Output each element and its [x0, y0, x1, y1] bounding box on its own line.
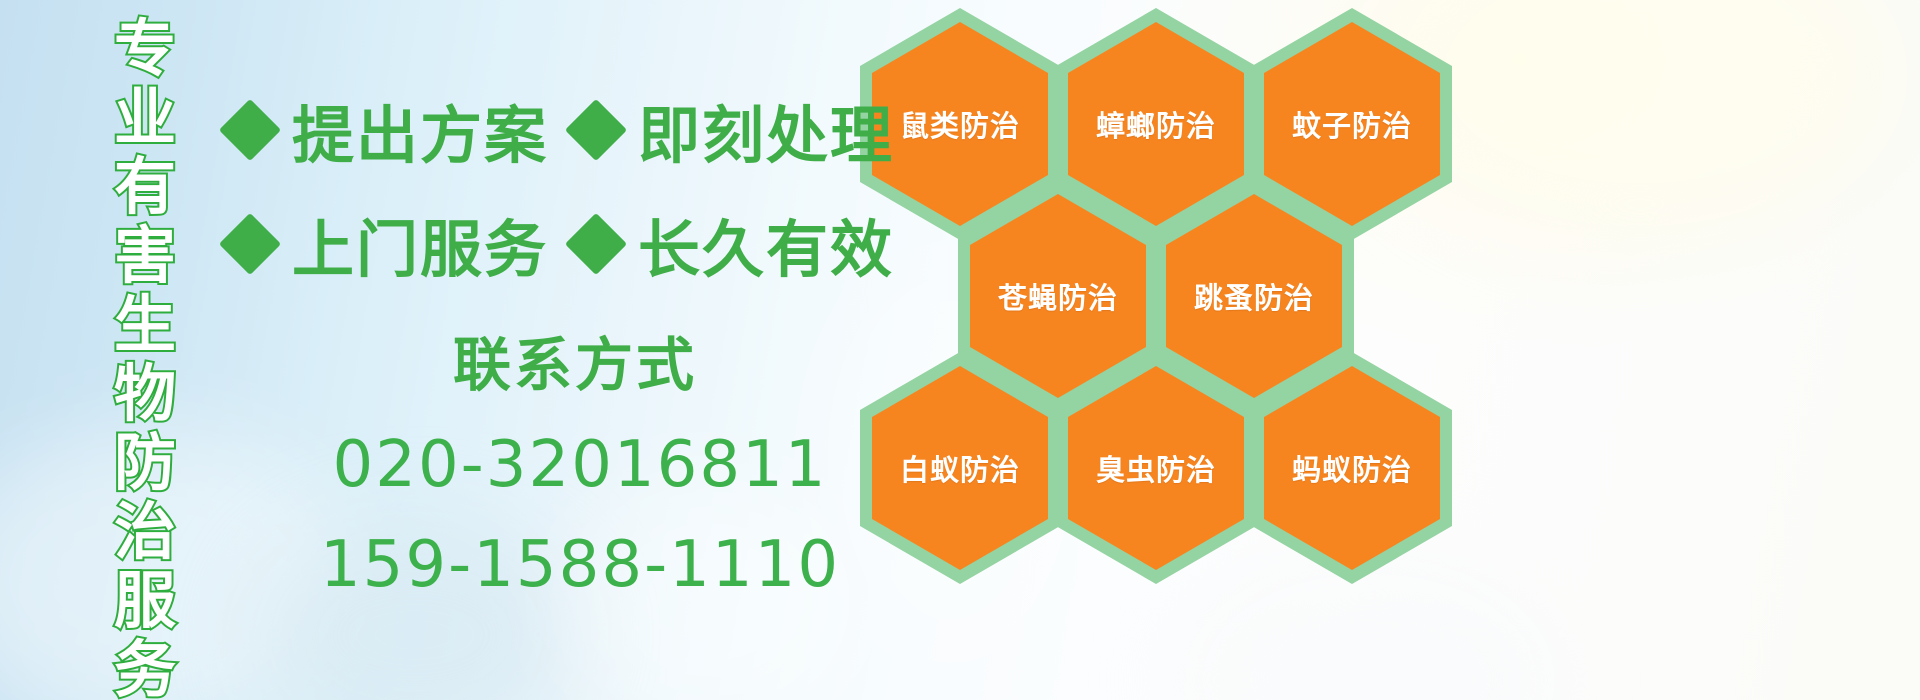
service-hex-termite[interactable]: 白蚁防治 [860, 352, 1060, 584]
diamond-icon [565, 213, 627, 275]
service-hex-label: 白蚁防治 [900, 447, 1020, 489]
vertical-headline-char: 治 [114, 497, 176, 566]
feature-bullet-item: 上门服务 [228, 199, 548, 289]
feature-bullet-label: 即刻处理 [638, 85, 894, 175]
service-hex-ant[interactable]: 蚂蚁防治 [1252, 352, 1452, 584]
feature-bullet-label: 上门服务 [292, 199, 548, 289]
feature-bullet-item: 长久有效 [574, 199, 894, 289]
service-hex-label: 臭虫防治 [1096, 447, 1216, 489]
feature-bullet-item: 提出方案 [228, 85, 548, 175]
diamond-icon [219, 99, 281, 161]
contact-block: 联系方式 020-32016811 159-1588-1110 [300, 318, 860, 602]
service-hex-label: 跳蚤防治 [1194, 275, 1314, 317]
service-hex-label: 蚊子防治 [1292, 103, 1412, 145]
service-honeycomb-grid: 鼠类防治 蟑螂防治 蚊子防治 苍蝇防治 跳蚤防治 [860, 0, 1920, 700]
vertical-headline-char: 业 [114, 83, 176, 152]
service-hex-bedbug[interactable]: 臭虫防治 [1056, 352, 1256, 584]
vertical-headline-char: 务 [114, 635, 176, 700]
vertical-headline-char: 生 [114, 290, 176, 359]
vertical-headline-char: 专 [114, 14, 176, 83]
phone-number-landline[interactable]: 020-32016811 [300, 428, 860, 502]
feature-bullet-label: 提出方案 [292, 85, 548, 175]
service-hex-label: 鼠类防治 [900, 103, 1020, 145]
service-hex-label: 蚂蚁防治 [1292, 447, 1412, 489]
vertical-headline-char: 害 [114, 221, 176, 290]
diamond-icon [219, 213, 281, 275]
vertical-headline-char: 防 [114, 428, 176, 497]
feature-bullet-list: 提出方案 即刻处理 上门服务 长久有效 [228, 84, 894, 290]
service-hex-label: 蟑螂防治 [1096, 103, 1216, 145]
diamond-icon [565, 99, 627, 161]
phone-number-mobile[interactable]: 159-1588-1110 [300, 528, 860, 602]
contact-title: 联系方式 [290, 318, 860, 402]
vertical-headline: 专 业 有 害 生 物 防 治 服 务 [104, 14, 186, 574]
feature-bullet-row: 上门服务 长久有效 [228, 198, 894, 290]
service-hex-label: 苍蝇防治 [998, 275, 1118, 317]
feature-bullet-label: 长久有效 [638, 199, 894, 289]
vertical-headline-char: 服 [114, 566, 176, 635]
vertical-headline-char: 有 [114, 152, 176, 221]
feature-bullet-item: 即刻处理 [574, 85, 894, 175]
promo-banner: 专 业 有 害 生 物 防 治 服 务 提出方案 即刻处理 上门服务 [0, 0, 1920, 700]
feature-bullet-row: 提出方案 即刻处理 [228, 84, 894, 176]
vertical-headline-char: 物 [114, 359, 176, 428]
